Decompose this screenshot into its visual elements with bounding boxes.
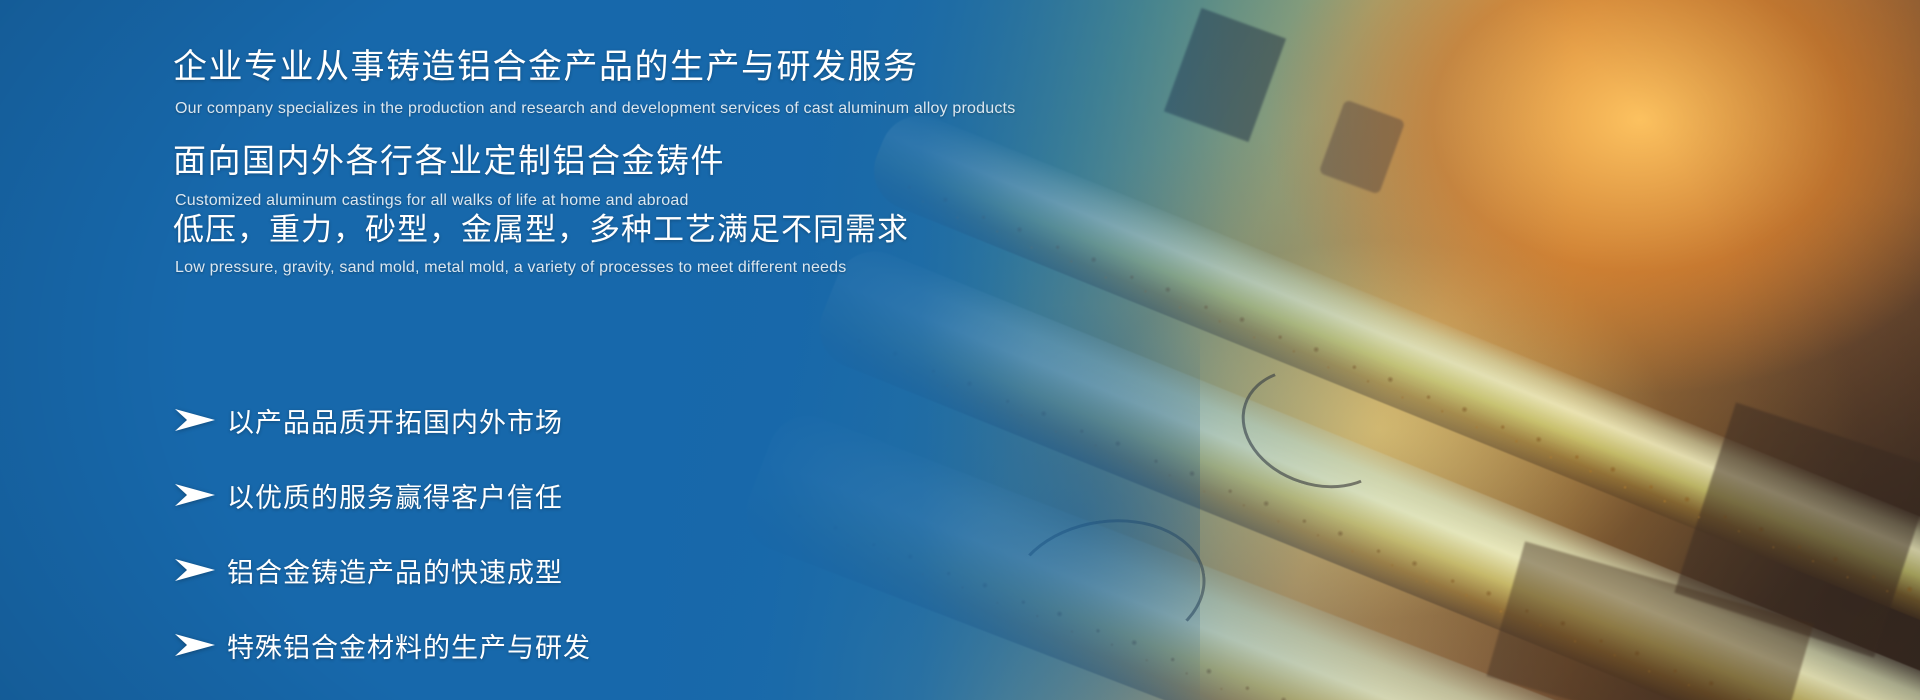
list-item: 铝合金铸造产品的快速成型 [173, 542, 873, 598]
headline-tertiary-en: Low pressure, gravity, sand mold, metal … [175, 258, 909, 279]
arrow-right-icon [173, 632, 219, 658]
list-item: 以优质的服务赢得客户信任 [173, 467, 873, 523]
heading-group-2: 面向国内外各行各业定制铝合金铸件 Customized aluminum cas… [173, 140, 725, 212]
list-item: 以产品品质开拓国内外市场 [173, 392, 873, 448]
hero-banner: 企业专业从事铸造铝合金产品的生产与研发服务 Our company specia… [0, 0, 1920, 700]
list-item: 特殊铝合金材料的生产与研发 [173, 617, 873, 673]
arrow-right-icon [173, 482, 219, 508]
arrow-right-icon [173, 407, 219, 433]
arrow-right-icon [173, 557, 219, 583]
headline-secondary-en: Customized aluminum castings for all wal… [175, 191, 725, 212]
heading-group-1: 企业专业从事铸造铝合金产品的生产与研发服务 Our company specia… [173, 46, 1015, 119]
heading-group-3: 低压，重力，砂型，金属型，多种工艺满足不同需求 Low pressure, gr… [173, 210, 909, 278]
banner-content: 企业专业从事铸造铝合金产品的生产与研发服务 Our company specia… [173, 0, 1353, 700]
list-item-label: 以优质的服务赢得客户信任 [227, 476, 563, 515]
headline-tertiary-cn: 低压，重力，砂型，金属型，多种工艺满足不同需求 [173, 210, 909, 250]
list-item-label: 特殊铝合金材料的生产与研发 [227, 626, 591, 665]
headline-primary-en: Our company specializes in the productio… [175, 99, 1015, 120]
headline-primary-cn: 企业专业从事铸造铝合金产品的生产与研发服务 [173, 46, 1015, 90]
list-item-label: 铝合金铸造产品的快速成型 [227, 551, 563, 590]
headline-secondary-cn: 面向国内外各行各业定制铝合金铸件 [173, 140, 725, 182]
feature-list: 以产品品质开拓国内外市场 以优质的服务赢得客户信任 铝合金铸造产品的快速成型 [173, 392, 873, 692]
list-item-label: 以产品品质开拓国内外市场 [227, 401, 563, 440]
